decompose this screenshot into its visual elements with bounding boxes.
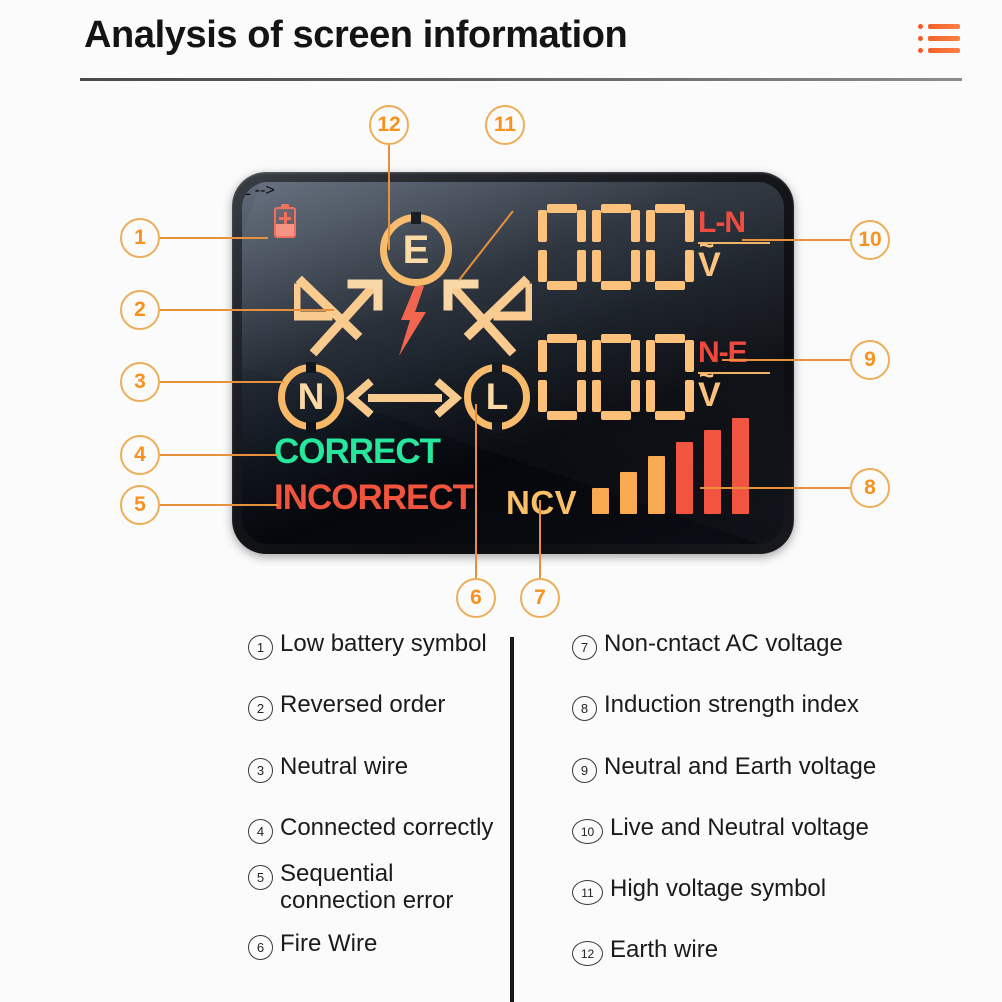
- callout-leader-4: [160, 454, 278, 456]
- title-divider: [80, 78, 962, 81]
- reversed-order-arrows-right-icon: [424, 272, 532, 362]
- callout-marker-4[interactable]: 4: [120, 435, 160, 475]
- readout-ln-unit: L-N ~V: [698, 206, 778, 282]
- seven-segment-digit: [538, 204, 586, 290]
- live-circle-notch: [492, 362, 502, 373]
- legend-label: Neutral and Earth voltage: [604, 754, 876, 781]
- callout-leader-6: [475, 404, 477, 580]
- legend-badge: 12: [572, 941, 603, 966]
- callout-marker-8[interactable]: 8: [850, 468, 890, 508]
- legend-section: 1Low battery symbol2Reversed order3Neutr…: [0, 615, 1002, 1002]
- callout-leader-12: [388, 145, 390, 250]
- earth-circle-notch: [411, 212, 421, 224]
- callout-leader-8: [700, 487, 852, 489]
- legend-item-1: 1Low battery symbol: [248, 631, 487, 660]
- induction-bar: [732, 418, 749, 514]
- legend-label: Induction strength index: [604, 692, 859, 719]
- callout-marker-12[interactable]: 12: [369, 105, 409, 145]
- seven-segment-digit: [646, 334, 694, 420]
- legend-label: Sequential connection error: [280, 861, 453, 915]
- seven-segment-digit: [538, 334, 586, 420]
- callout-marker-5[interactable]: 5: [120, 485, 160, 525]
- legend-item-5: 5Sequential connection error: [248, 861, 453, 915]
- ac-tilde-icon: ~: [699, 232, 714, 258]
- callout-leader-1: [160, 237, 268, 239]
- induction-bar: [620, 472, 637, 514]
- callout-marker-2[interactable]: 2: [120, 290, 160, 330]
- induction-strength-bars: [592, 418, 758, 514]
- legend-label: High voltage symbol: [610, 876, 826, 903]
- induction-bar: [648, 456, 665, 514]
- callout-leader-9: [722, 359, 852, 361]
- legend-badge: 2: [248, 696, 273, 721]
- callout-leader-5: [160, 504, 278, 506]
- legend-item-4: 4Connected correctly: [248, 815, 493, 844]
- live-symbol-icon: L: [464, 364, 530, 430]
- status-correct-label: CORRECT: [274, 432, 440, 472]
- legend-badge: 3: [248, 758, 273, 783]
- readout-ne: [538, 334, 694, 420]
- induction-bar: [592, 488, 609, 514]
- legend-label: Neutral wire: [280, 754, 408, 781]
- page-header: Analysis of screen information: [0, 0, 1002, 82]
- callout-marker-10[interactable]: 10: [850, 220, 890, 260]
- ac-tilde-icon: ~: [699, 362, 714, 388]
- legend-item-6: 6Fire Wire: [248, 931, 377, 960]
- neutral-symbol-icon: N: [278, 364, 344, 430]
- legend-badge: 6: [248, 935, 273, 960]
- readout-ln: [538, 204, 694, 290]
- legend-column-divider: [510, 637, 514, 1002]
- callout-marker-1[interactable]: 1: [120, 218, 160, 258]
- callout-leader-2: [160, 309, 334, 311]
- ncv-label: NCV: [506, 484, 577, 522]
- legend-badge: 7: [572, 635, 597, 660]
- legend-item-3: 3Neutral wire: [248, 754, 408, 783]
- legend-label: Reversed order: [280, 692, 445, 719]
- page-title: Analysis of screen information: [84, 14, 627, 57]
- legend-badge: 10: [572, 819, 603, 844]
- induction-bar: [676, 442, 693, 514]
- menu-icon-row: [918, 48, 962, 53]
- legend-badge: 4: [248, 819, 273, 844]
- callout-marker-6[interactable]: 6: [456, 578, 496, 618]
- callout-leader-10: [742, 239, 852, 241]
- lcd-display-bezel: E N L: [232, 172, 794, 554]
- legend-label: Earth wire: [610, 937, 718, 964]
- high-voltage-bolt-icon: [398, 286, 428, 356]
- neutral-symbol-letter: N: [298, 376, 325, 418]
- legend-label: Live and Neutral voltage: [610, 815, 869, 842]
- seven-segment-digit: [592, 334, 640, 420]
- status-incorrect-label: INCORRECT: [274, 478, 473, 518]
- legend-badge: 5: [248, 865, 273, 890]
- legend-badge: 8: [572, 696, 597, 721]
- readout-ln-digits: [538, 204, 694, 290]
- callout-leader-7: [539, 500, 541, 580]
- readout-ne-unit-bottom: ~V: [698, 378, 721, 412]
- seven-segment-digit: [592, 204, 640, 290]
- menu-icon-row: [918, 24, 962, 29]
- readout-ln-unit-bottom: ~V: [698, 248, 721, 282]
- callout-leader-3: [160, 381, 284, 383]
- low-battery-icon: [274, 204, 296, 238]
- legend-label: Connected correctly: [280, 815, 493, 842]
- earth-symbol-letter: E: [403, 228, 430, 273]
- legend-item-9: 9Neutral and Earth voltage: [572, 754, 876, 783]
- legend-label: Non-cntact AC voltage: [604, 631, 843, 658]
- readout-ne-digits: [538, 334, 694, 420]
- readout-ne-unit: N-E ~V: [698, 336, 778, 412]
- callout-marker-9[interactable]: 9: [850, 340, 890, 380]
- legend-item-11: 11High voltage symbol: [572, 876, 826, 905]
- live-circle-notch: [492, 422, 502, 433]
- bidirectional-arrow-icon: [346, 378, 462, 418]
- legend-item-8: 8Induction strength index: [572, 692, 859, 721]
- legend-label: Fire Wire: [280, 931, 377, 958]
- callout-marker-7[interactable]: 7: [520, 578, 560, 618]
- legend-item-2: 2Reversed order: [248, 692, 445, 721]
- live-symbol-letter: L: [486, 376, 509, 418]
- neutral-circle-notch: [306, 362, 316, 373]
- legend-item-10: 10Live and Neutral voltage: [572, 815, 869, 844]
- list-menu-icon[interactable]: [918, 22, 962, 62]
- legend-item-7: 7Non-cntact AC voltage: [572, 631, 843, 660]
- callout-marker-11[interactable]: 11: [485, 105, 525, 145]
- legend-label: Low battery symbol: [280, 631, 487, 658]
- legend-badge: 1: [248, 635, 273, 660]
- legend-item-12: 12Earth wire: [572, 937, 718, 966]
- seven-segment-digit: [646, 204, 694, 290]
- menu-icon-row: [918, 36, 962, 41]
- lcd-screen: E N L: [242, 182, 784, 544]
- reversed-order-arrows-left-icon: [294, 272, 402, 362]
- induction-bar: [704, 430, 721, 514]
- callout-marker-3[interactable]: 3: [120, 362, 160, 402]
- legend-badge: 9: [572, 758, 597, 783]
- legend-badge: 11: [572, 880, 603, 905]
